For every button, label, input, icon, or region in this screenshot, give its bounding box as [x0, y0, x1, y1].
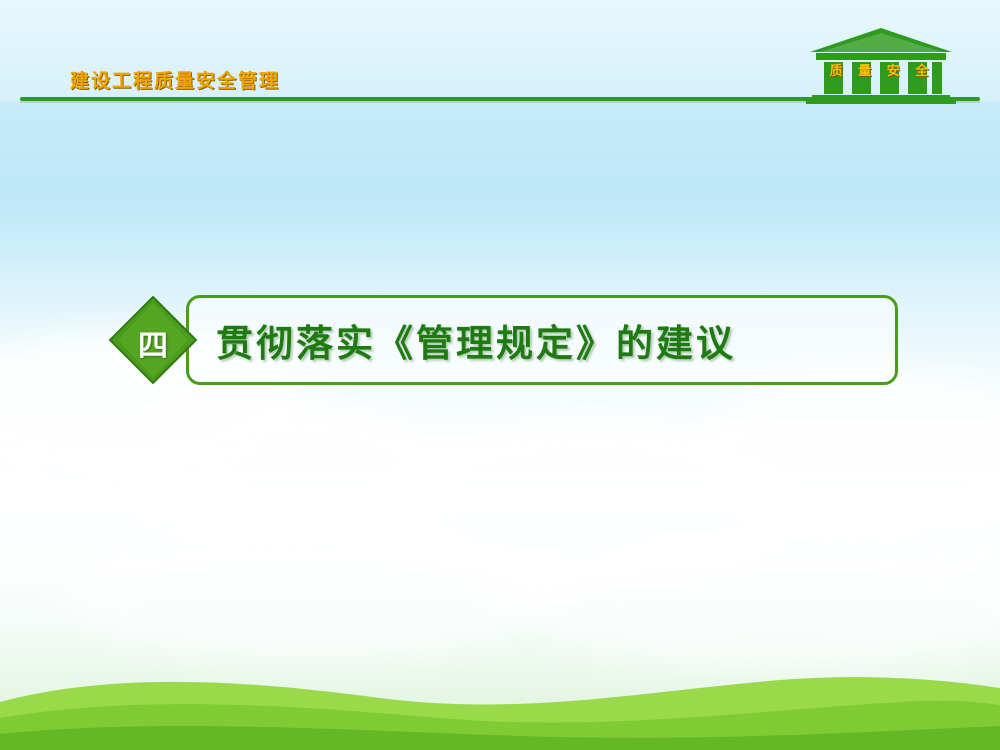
section-title-text: 贯彻落实《管理规定》的建议	[216, 313, 876, 367]
classical-building-icon	[806, 26, 956, 104]
slide-canvas: 建设工程质量安全管理 质 量 安 全 贯彻落实《管理规定》的建议 四	[0, 0, 1000, 750]
header-title: 建设工程质量安全管理	[70, 66, 280, 93]
section-number-diamond-icon	[108, 295, 198, 385]
grass-footer-graphic	[0, 640, 1000, 750]
section-title-banner: 贯彻落实《管理规定》的建议 四	[108, 295, 898, 385]
cloud-shape	[60, 520, 560, 660]
